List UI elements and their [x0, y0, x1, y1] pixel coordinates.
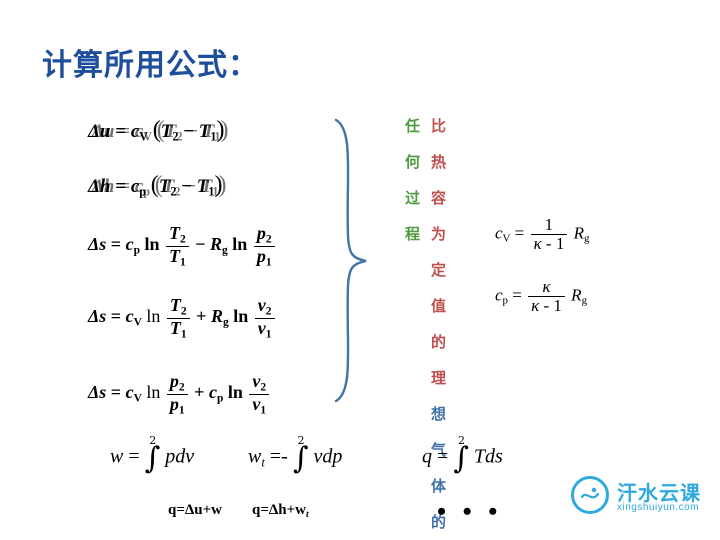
formula-delta-s-3-den1: p — [170, 394, 179, 414]
formula-delta-s-2-r: R — [211, 306, 223, 326]
formula-cp-lhs: c — [495, 285, 503, 304]
formula-delta-h-ghost-t1: T — [201, 176, 213, 197]
formula-cv-den-one: 1 — [556, 234, 565, 253]
formula-delta-s-2-num2: v — [258, 295, 266, 315]
formula-delta-u-ghost-t2-sub: 2 — [176, 130, 182, 144]
formula-delta-s-3: Δs = cV ln p2 p1 + cp ln v2 v1 — [88, 372, 271, 416]
formula-delta-s-3-num1-sub: 2 — [179, 381, 185, 393]
formula-delta-s-1-op: − — [195, 234, 205, 254]
formula-delta-s-1-lhs: Δs — [88, 234, 106, 254]
formula-cp-definition: cp = κ κ - 1 Rg — [495, 278, 587, 315]
formula-delta-s-3-frac2: v2 v1 — [249, 372, 269, 416]
formula-cp-num: κ — [542, 277, 550, 296]
formula-cv-r: R — [574, 223, 584, 242]
formula-delta-s-2-den1: T — [170, 318, 181, 338]
heat-integral-eq: = — [437, 446, 448, 468]
formula-cp-eq: = — [512, 285, 522, 304]
formula-delta-s-3-coef: c — [126, 382, 134, 402]
formula-delta-s-2-frac1: T2 T1 — [167, 296, 190, 340]
formula-delta-s-1-num1-sub: 2 — [180, 233, 186, 245]
vertical-annotation-char-15: 程 — [398, 226, 424, 243]
vertical-annotation-char-3: 为 — [424, 226, 450, 243]
formula-delta-u-ghost-minus: − — [187, 121, 198, 142]
formula-delta-s-3-r: c — [209, 382, 217, 402]
formula-delta-h-ghost-eq: = — [119, 176, 130, 197]
formula-delta-s-2-coef-sub: V — [134, 317, 142, 329]
formula-delta-s-2-num2-sub: 2 — [266, 305, 272, 317]
formula-delta-s-1-coef: c — [126, 234, 134, 254]
formula-cv-lhs-sub: V — [503, 233, 511, 245]
formula-delta-s-2-r-sub: g — [223, 317, 229, 329]
vertical-annotation-char-10: 体 — [424, 478, 450, 495]
formula-cv-fraction: 1 κ - 1 — [531, 216, 568, 253]
logo-text-en: xingshuiyun.com — [617, 502, 699, 513]
ellipsis-marker: • • • — [437, 497, 502, 527]
formula-cv-lhs: c — [495, 223, 503, 242]
slide-canvas: 计算所用公式： Δu = cV (T2 − T1) Δu = cV (T2 − … — [0, 0, 720, 540]
vertical-annotation-char-2: 容 — [424, 190, 450, 207]
vertical-annotation-char-0: 比 — [424, 118, 450, 135]
formula-delta-s-3-ln1: ln — [146, 382, 160, 402]
formula-delta-s-1-den1-sub: 1 — [180, 256, 186, 268]
formula-delta-s-2-coef: c — [126, 306, 134, 326]
formula-cv-den-kappa: κ — [534, 234, 542, 253]
formula-delta-s-1-den2: p — [257, 246, 266, 266]
relation-q-delta-h-wt-text: q=Δh+w — [252, 502, 306, 518]
formula-delta-s-2-num1: T — [170, 295, 181, 315]
page-title: 计算所用公式： — [42, 40, 259, 84]
relation-q-delta-h-wt-sub: t — [306, 509, 309, 520]
formula-delta-s-2-num1-sub: 2 — [181, 305, 187, 317]
formula-delta-h-ghost-t2-sub: 2 — [174, 185, 180, 199]
formula-delta-s-3-ln2: ln — [228, 382, 243, 402]
formula-delta-h-ghost: Δh = cp (T2 − T1) — [92, 172, 226, 200]
formula-delta-s-1-den2-sub: 1 — [266, 256, 272, 268]
integral-sign-icon: ∫2 — [145, 441, 161, 476]
formula-delta-s-3-num2-sub: 2 — [260, 381, 266, 393]
integral-sign-icon-2: ∫2 — [293, 441, 309, 476]
formula-delta-u-ghost-open: ( — [157, 117, 165, 143]
formula-cp-r: R — [571, 285, 581, 304]
formula-delta-s-3-op: + — [194, 382, 204, 402]
formula-delta-s-3-den2-sub: 1 — [260, 404, 266, 416]
formula-delta-s-2-frac2: v2 v1 — [255, 296, 275, 340]
formula-delta-s-2: Δs = cV ln T2 T1 + Rg ln v2 v1 — [88, 296, 277, 340]
work-integral-upper-limit: 2 — [149, 434, 156, 447]
work-integral-lhs: w — [110, 446, 123, 468]
integral-sign-icon-3: ∫2 — [453, 441, 469, 476]
formula-delta-u-ghost-t1: T — [203, 121, 215, 142]
formula-delta-s-1: Δs = cp ln T2 T1 − Rg ln p2 p1 — [88, 224, 277, 268]
formula-delta-u-ghost: Δu = cV (T2 − T1) — [92, 117, 228, 145]
formula-delta-s-2-ln1: ln — [146, 306, 160, 326]
logo-wave-icon — [580, 485, 600, 505]
work-integral-eq: = — [128, 446, 139, 468]
formula-delta-s-2-den2: v — [258, 318, 266, 338]
formula-cv-definition: cV = 1 κ - 1 Rg — [495, 216, 589, 253]
technical-work-lhs: w — [248, 446, 261, 468]
formula-delta-s-3-coef-sub: V — [134, 393, 142, 405]
grouping-brace — [332, 118, 372, 403]
formula-cp-fraction: κ κ - 1 — [528, 278, 565, 315]
formula-cv-r-sub: g — [584, 233, 589, 245]
formula-delta-s-1-den1: T — [169, 246, 180, 266]
formula-delta-s-1-num2: p — [257, 223, 266, 243]
heat-integral-lhs: q — [422, 446, 432, 468]
formula-delta-s-2-den1-sub: 1 — [181, 328, 187, 340]
formula-delta-h-ghost-open: ( — [155, 172, 163, 198]
formula-delta-u-ghost-t2: T — [165, 121, 177, 142]
formula-delta-u-ghost-coef: c — [135, 121, 143, 142]
formula-delta-s-2-ln2: ln — [233, 306, 248, 326]
formula-delta-h-ghost-t2: T — [163, 176, 175, 197]
formula-delta-s-2-den2-sub: 1 — [266, 328, 272, 340]
brand-logo: 汗水云课 xingshuiyun.com — [571, 474, 701, 522]
technical-work-upper-limit: 2 — [298, 434, 305, 447]
heat-integral-integrand: Tds — [474, 446, 503, 468]
formula-delta-s-1-ln1: ln — [144, 234, 159, 254]
relation-q-delta-h-wt: q=Δh+wt — [252, 502, 309, 520]
formula-delta-s-1-eq: = — [111, 234, 121, 254]
formula-delta-s-2-eq: = — [111, 306, 121, 326]
formula-cv-eq: = — [515, 223, 525, 242]
formula-delta-s-1-r: R — [210, 234, 222, 254]
vertical-annotation: 比 热 容 为 定 值 的 理 想 气 体 的 任 何 过 程 — [424, 118, 450, 540]
formula-technical-work-integral: wt =- ∫2 vdp — [248, 441, 342, 476]
formula-delta-s-1-frac2: p2 p1 — [254, 224, 275, 268]
vertical-annotation-char-8: 想 — [424, 406, 450, 423]
formula-delta-h-ghost-coef: c — [135, 176, 143, 197]
formula-delta-s-3-den1-sub: 1 — [179, 404, 185, 416]
formula-cp-den-kappa: κ — [531, 296, 539, 315]
technical-work-integrand: vdp — [314, 446, 343, 468]
formula-cp-den-minus: - — [544, 296, 550, 315]
formula-delta-s-2-lhs: Δs — [88, 306, 106, 326]
formula-delta-s-3-eq: = — [111, 382, 121, 402]
vertical-annotation-char-14: 过 — [398, 190, 424, 207]
formula-delta-h-ghost-coef-sub: p — [143, 185, 150, 199]
formula-delta-s-3-lhs: Δs — [88, 382, 106, 402]
technical-work-lhs-sub: t — [261, 455, 265, 469]
formula-delta-u-ghost-close: ) — [220, 117, 228, 143]
formula-delta-h-ghost-lhs: Δh — [92, 176, 114, 197]
vertical-annotation-char-13: 何 — [398, 154, 424, 171]
vertical-annotation-char-6: 的 — [424, 334, 450, 351]
formula-cp-den-one: 1 — [553, 296, 562, 315]
formula-delta-h-ghost-close: ) — [218, 172, 226, 198]
vertical-annotation-char-1: 热 — [424, 154, 450, 171]
formula-cp-r-sub: g — [582, 295, 587, 307]
formula-delta-s-1-ln2: ln — [232, 234, 247, 254]
heat-integral-upper-limit: 2 — [458, 434, 465, 447]
formula-delta-s-1-coef-sub: p — [134, 245, 140, 257]
formula-delta-s-1-r-sub: g — [222, 245, 228, 257]
vertical-annotation-char-7: 理 — [424, 370, 450, 387]
formula-delta-s-1-num2-sub: 2 — [266, 233, 272, 245]
formula-delta-u-ghost-eq: = — [119, 121, 130, 142]
formula-delta-s-3-r-sub: p — [217, 393, 223, 405]
formula-delta-s-2-op: + — [196, 306, 206, 326]
formula-cv-den-minus: - — [546, 234, 552, 253]
formula-delta-u-ghost-lhs: Δu — [92, 121, 114, 142]
technical-work-eq: =- — [270, 446, 288, 468]
relation-q-delta-u-w: q=Δu+w — [168, 502, 222, 519]
formula-work-integral: w = ∫2 pdv — [110, 441, 194, 476]
vertical-annotation-char-4: 定 — [424, 262, 450, 279]
formula-delta-s-3-frac1: p2 p1 — [167, 372, 188, 416]
vertical-annotation-char-5: 值 — [424, 298, 450, 315]
work-integral-integrand: pdv — [165, 446, 194, 468]
vertical-annotation-char-12: 任 — [398, 118, 424, 135]
formula-delta-h-ghost-minus: − — [185, 176, 196, 197]
formula-delta-s-1-frac1: T2 T1 — [166, 224, 189, 268]
formula-delta-s-3-num1: p — [170, 371, 179, 391]
formula-delta-s-1-num1: T — [169, 223, 180, 243]
formula-cp-lhs-sub: p — [503, 295, 508, 307]
formula-heat-integral: q = ∫2 Tds — [422, 441, 503, 476]
formula-delta-u-ghost-coef-sub: V — [143, 130, 152, 144]
formula-cv-num: 1 — [545, 215, 554, 234]
